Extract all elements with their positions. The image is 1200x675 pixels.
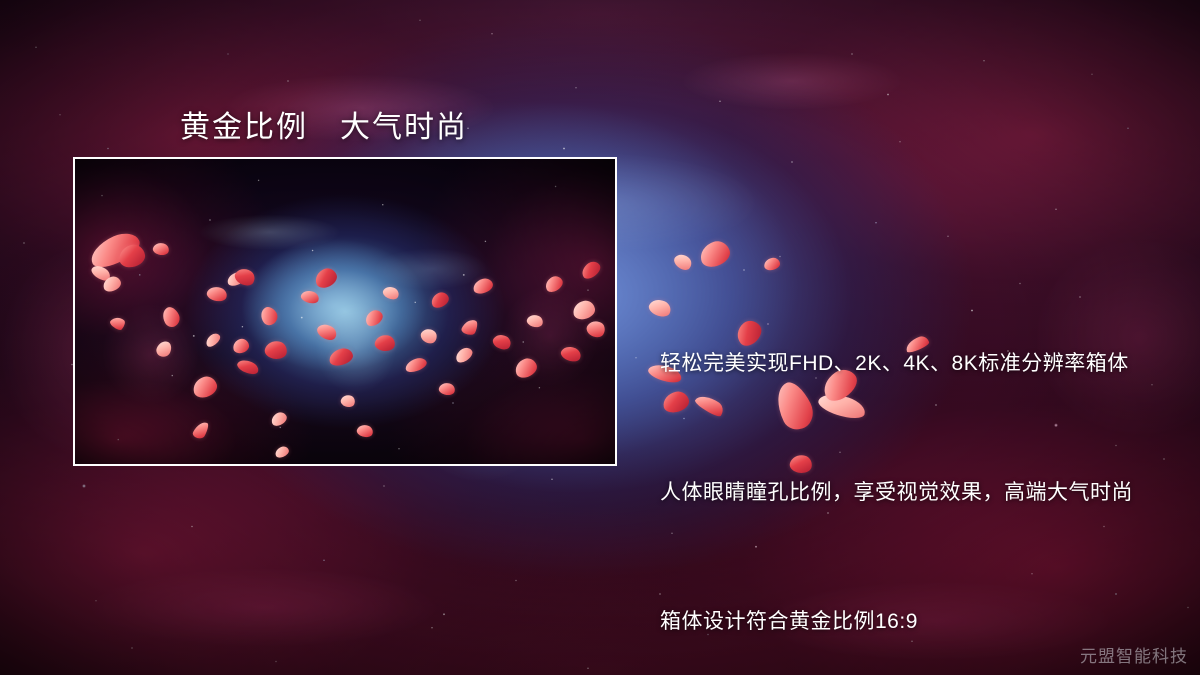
watermark: 元盟智能科技 [1080,642,1188,667]
page-title: 黄金比例 大气时尚 [180,102,468,146]
photo-vignette [75,159,615,464]
body-line-2: 人体眼睛瞳孔比例，享受视觉效果，高端大气时尚 [660,471,1133,514]
body-line-1: 轻松完美实现FHD、2K、4K、8K标准分辨率箱体 [660,342,1133,385]
framed-photo [73,157,617,466]
body-text-block: 轻松完美实现FHD、2K、4K、8K标准分辨率箱体 人体眼睛瞳孔比例，享受视觉效… [660,256,1133,675]
body-line-3: 箱体设计符合黄金比例16:9 [660,600,1133,643]
presentation-slide: 黄金比例 大气时尚 轻松完美实现FHD、2K、4K、8K标准分辨率箱体 人体眼睛… [0,0,1200,675]
